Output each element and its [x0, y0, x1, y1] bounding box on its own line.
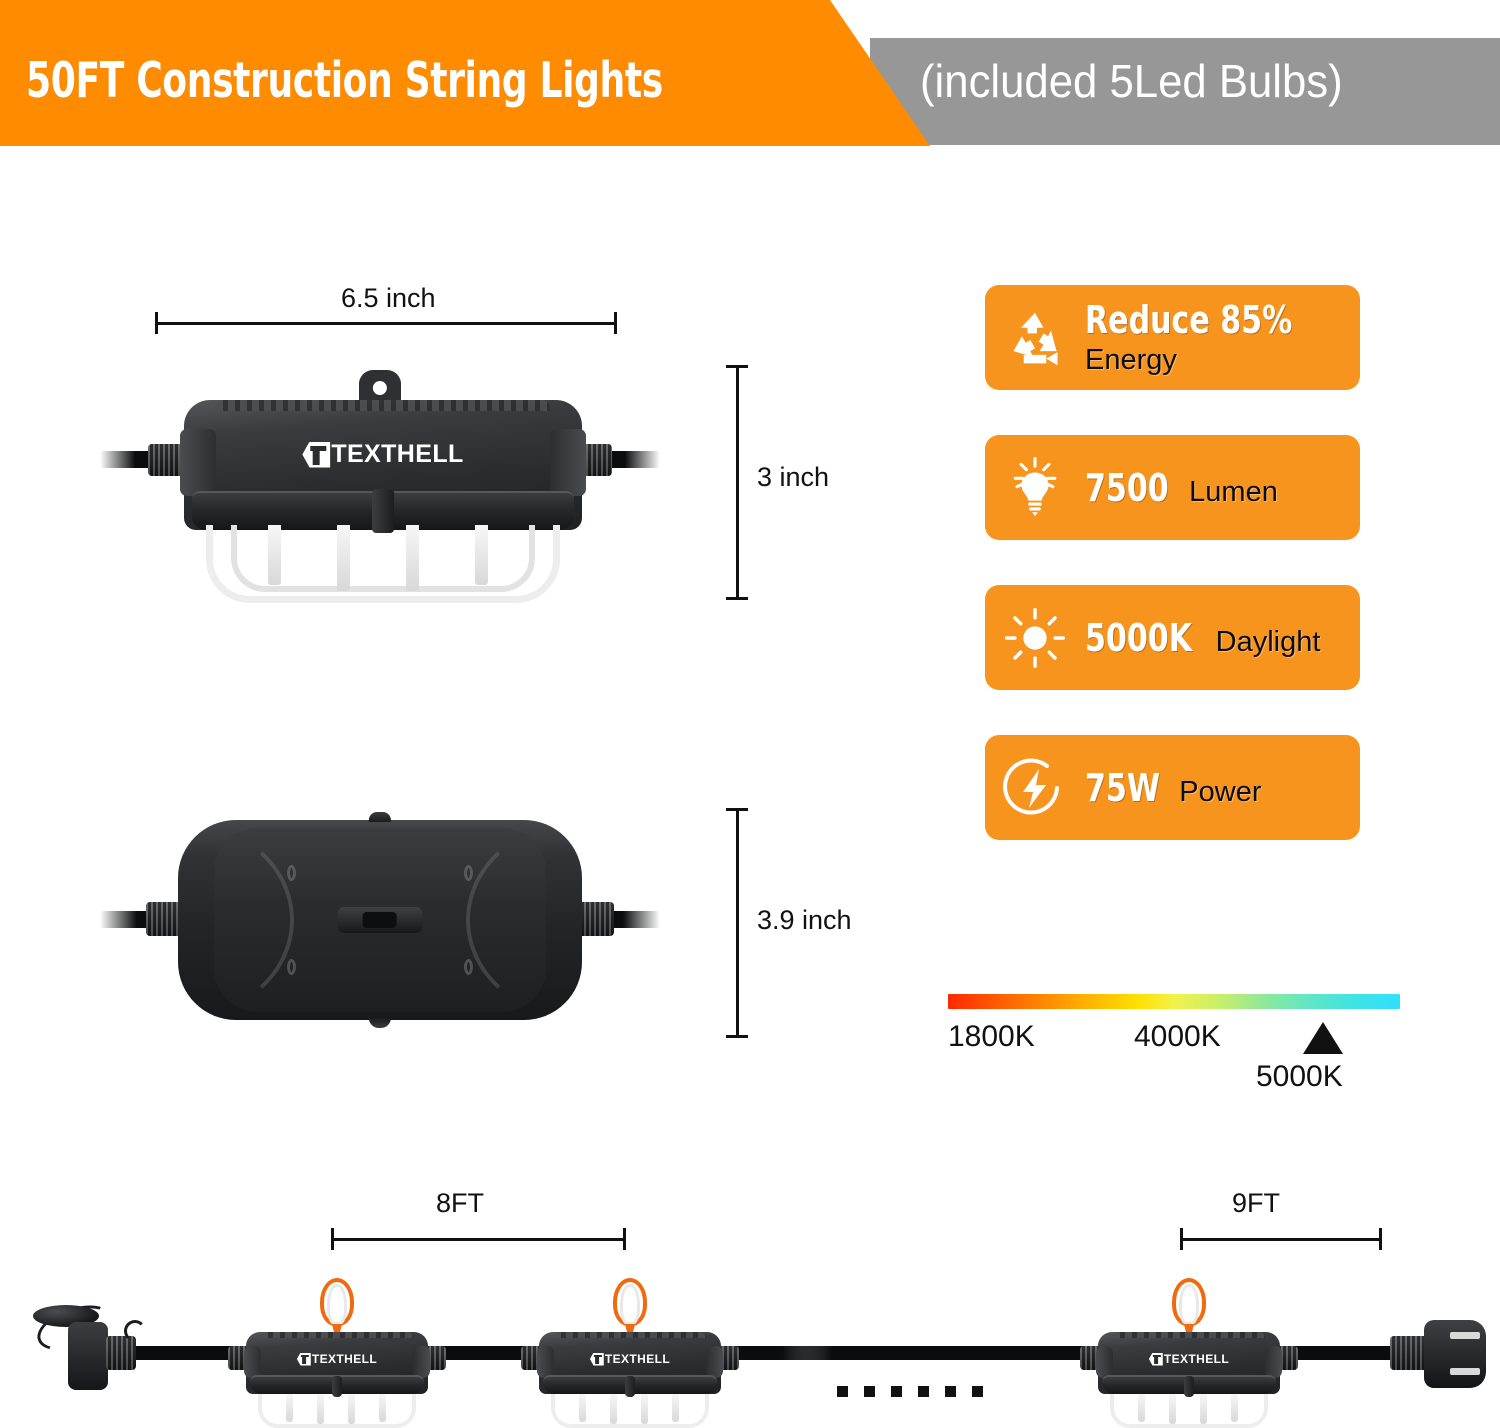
ellipsis-dot: [945, 1386, 956, 1397]
badge-unit: Lumen: [1189, 476, 1278, 509]
badge-lumen[interactable]: 7500 Lumen: [985, 435, 1360, 540]
hook-inner: [327, 1284, 346, 1325]
cage-rib: [268, 525, 281, 585]
string-cord-fade-left: [760, 1346, 920, 1360]
cage-rib: [337, 525, 350, 591]
housing-top-ridge: [261, 1332, 414, 1338]
dim-label-spacing-last: 9FT: [1232, 1188, 1280, 1219]
badge-unit: Energy: [1085, 344, 1321, 377]
housing-top-ridge: [216, 400, 550, 411]
heatsink-center-latch: [338, 907, 423, 933]
housing-top-ridge: [554, 1332, 707, 1338]
gland-ribs: [148, 444, 184, 476]
cct-label-min: 1800K: [948, 1020, 1035, 1054]
cct-marker-triangle: [1303, 1022, 1343, 1054]
carabiner-hook: [1172, 1278, 1206, 1340]
dim-bracket-front-width: [155, 312, 617, 334]
cage-rib: [641, 1394, 648, 1424]
recycle-icon: [985, 285, 1085, 390]
carabiner-hook: [320, 1278, 354, 1340]
badge-daylight[interactable]: 5000K Daylight: [985, 585, 1360, 690]
fixture-housing: TEXTHELL: [1098, 1332, 1280, 1394]
dim-label-front-width: 6.5 inch: [341, 283, 436, 314]
badge-text: Reduce 85% Energy: [1085, 298, 1321, 377]
wire-cage: [1110, 1394, 1268, 1428]
cct-label-marker: 5000K: [1256, 1060, 1343, 1094]
housing-shoulder-left: [180, 429, 216, 497]
brand-logo: TEXTHELL: [297, 1352, 377, 1366]
fixture-front-view: TEXTHELL: [100, 370, 660, 620]
gland-ribs: [1390, 1336, 1428, 1370]
cage-rib: [348, 1394, 355, 1424]
cage-rib: [475, 525, 488, 585]
housing-shoulder-right: [706, 1346, 722, 1378]
housing-shoulder-right: [550, 429, 586, 497]
plug-prong: [1450, 1332, 1480, 1339]
string-fixture-2: TEXTHELL: [521, 1332, 739, 1428]
string-fixture-1: TEXTHELL: [228, 1332, 446, 1428]
string-ellipsis: [837, 1386, 983, 1397]
brand-name: TEXTHELL: [605, 1352, 670, 1366]
sun-icon: [985, 585, 1085, 690]
heatsink-nub-top: [369, 812, 391, 822]
cage-rib: [1200, 1394, 1207, 1424]
cage-hoop-outer: [1110, 1394, 1268, 1428]
heatsink-top: [178, 820, 582, 1020]
heatsink-nub-bottom: [369, 1018, 391, 1028]
dim-line: [736, 365, 739, 600]
product-infographic: 50FT Construction String Lights (include…: [0, 0, 1500, 1428]
dim-bracket-front-height: [726, 365, 748, 600]
badge-value: 7500: [1085, 466, 1169, 510]
string-fixture-last: TEXTHELL: [1080, 1332, 1298, 1428]
logo-mark-icon: [590, 1353, 604, 1366]
cage-rib: [286, 1394, 293, 1422]
badge-energy[interactable]: Reduce 85% Energy: [985, 285, 1360, 390]
badge-unit: Daylight: [1216, 626, 1321, 659]
cage-rib: [379, 1394, 386, 1422]
cage-rib: [1138, 1394, 1145, 1422]
dim-tick-bottom: [726, 597, 748, 600]
badge-value: 75W: [1085, 766, 1160, 810]
cage-rib: [579, 1394, 586, 1422]
dim-tick-right: [623, 1228, 626, 1250]
cage-rib: [317, 1394, 324, 1424]
dim-label-front-height: 3 inch: [757, 462, 829, 493]
hook-inner: [620, 1284, 639, 1325]
cct-gradient-bar: [948, 994, 1400, 1009]
power-bolt-icon: [985, 735, 1085, 840]
ellipsis-dot: [972, 1386, 983, 1397]
cage-rib: [672, 1394, 679, 1422]
plug-prong: [1450, 1368, 1480, 1375]
badge-unit: Power: [1179, 776, 1261, 809]
dim-tick-right: [614, 312, 617, 334]
logo-mark-icon: [302, 442, 330, 468]
housing-shoulder-left: [537, 1346, 553, 1378]
housing-shoulder-right: [413, 1346, 429, 1378]
dim-tick-right: [1379, 1228, 1382, 1250]
cage-rib: [1169, 1394, 1176, 1424]
plug-strain-relief: [1390, 1336, 1428, 1370]
cage-rib: [406, 525, 419, 591]
carabiner-hook: [613, 1278, 647, 1340]
color-temperature-scale: 1800K 4000K 5000K: [948, 994, 1400, 1009]
brand-name: TEXTHELL: [312, 1352, 377, 1366]
wire-cage: [258, 1394, 416, 1428]
dim-line: [155, 322, 617, 325]
dim-bracket-top-height: [726, 808, 748, 1038]
dim-label-top-height: 3.9 inch: [757, 905, 852, 936]
badge-text: 5000K Daylight: [1085, 616, 1320, 660]
dim-line: [1180, 1238, 1382, 1241]
brand-name: TEXTHELL: [1164, 1352, 1229, 1366]
ellipsis-dot: [891, 1386, 902, 1397]
housing-shoulder-right: [1265, 1346, 1281, 1378]
housing-top-ridge: [1113, 1332, 1266, 1338]
header-subtitle: (included 5Led Bulbs): [920, 54, 1343, 108]
socket-body: [68, 1322, 108, 1390]
ellipsis-dot: [918, 1386, 929, 1397]
us-two-prong-plug: [1424, 1320, 1486, 1388]
housing-shoulder-left: [1096, 1346, 1112, 1378]
string-light-layout: 8FT 9FT: [0, 1180, 1500, 1428]
heatsink-vent: [464, 865, 473, 881]
wire-cage: [206, 525, 560, 603]
brand-logo: TEXTHELL: [1149, 1352, 1229, 1366]
ellipsis-dot: [864, 1386, 875, 1397]
brand-logo: TEXTHELL: [590, 1352, 670, 1366]
cap-ring: [124, 1320, 146, 1342]
brand-name: TEXTHELL: [331, 440, 463, 469]
dim-line: [331, 1238, 626, 1241]
dim-line: [736, 808, 739, 1038]
page-title: 50FT Construction String Lights: [26, 52, 663, 109]
feature-badge-list: Reduce 85% Energy: [985, 285, 1360, 885]
fixture-housing: TEXTHELL: [184, 400, 582, 530]
badge-power[interactable]: 75W Power: [985, 735, 1360, 840]
fixture-top-view: [100, 800, 660, 1050]
cage-rib: [1231, 1394, 1238, 1422]
badge-value: 5000K: [1085, 616, 1192, 660]
logo-mark-icon: [297, 1353, 311, 1366]
header-banner: 50FT Construction String Lights (include…: [0, 0, 1500, 150]
cage-rib: [610, 1394, 617, 1424]
heatsink-vent: [464, 959, 473, 975]
housing-shoulder-left: [244, 1346, 260, 1378]
lightbulb-icon: [985, 435, 1085, 540]
wire-cage: [551, 1394, 709, 1428]
dim-tick-bottom: [726, 1035, 748, 1038]
ellipsis-dot: [837, 1386, 848, 1397]
badge-text: 7500 Lumen: [1085, 466, 1278, 510]
dim-bracket-spacing-first: [331, 1228, 626, 1250]
cage-hoop-outer: [551, 1394, 709, 1428]
badge-text: 75W Power: [1085, 766, 1262, 810]
brand-logo: TEXTHELL: [302, 440, 463, 469]
fixture-housing: TEXTHELL: [539, 1332, 721, 1394]
cct-label-mid: 4000K: [1134, 1020, 1221, 1054]
fixture-housing: TEXTHELL: [246, 1332, 428, 1394]
hook-inner: [1179, 1284, 1198, 1325]
logo-mark-icon: [1149, 1353, 1163, 1366]
dim-bracket-spacing-last: [1180, 1228, 1382, 1250]
dim-label-spacing-first: 8FT: [436, 1188, 484, 1219]
badge-value: Reduce 85%: [1085, 298, 1292, 342]
cable-gland-left: [148, 444, 184, 476]
cage-hoop-outer: [258, 1394, 416, 1428]
